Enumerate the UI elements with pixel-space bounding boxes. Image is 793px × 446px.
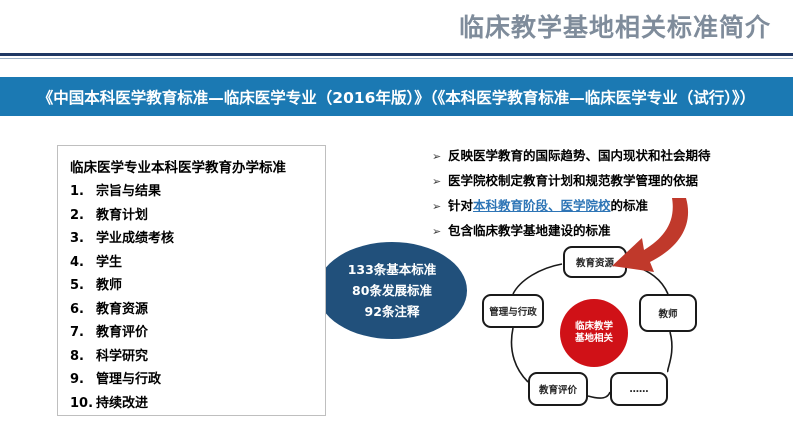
key-point-row: ➢反映医学教育的国际趋势、国内现状和社会期待: [432, 144, 762, 169]
cycle-node-more-label: ……: [630, 384, 649, 395]
page-title: 临床教学基地相关标准简介: [459, 8, 771, 44]
standards-list-item: 5.教师: [70, 274, 325, 298]
header-divider-thin: [0, 58, 793, 59]
standards-list-item-label: 教育评价: [96, 321, 148, 345]
standards-list-item-number: 5.: [70, 274, 96, 298]
standards-list-item-number: 10.: [70, 392, 96, 416]
standards-list-item-label: 持续改进: [96, 392, 148, 416]
key-point-text: 医学院校制定教育计划和规范教学管理的依据: [448, 169, 698, 193]
count-line-basic: 133条基本标准: [348, 259, 437, 280]
standards-list-item: 10.持续改进: [70, 392, 325, 416]
counts-ellipse: 133条基本标准 80条发展标准 92条注释: [317, 242, 467, 339]
standards-list-item-number: 9.: [70, 368, 96, 392]
standards-list-item-number: 8.: [70, 345, 96, 369]
cycle-center-circle: 临床教学 基地相关: [560, 299, 628, 367]
standards-list-item-label: 管理与行政: [96, 368, 161, 392]
count-line-notes: 92条注释: [365, 301, 420, 322]
standards-list-item: 4.学生: [70, 251, 325, 275]
standard-title-banner: 《中国本科医学教育标准—临床医学专业（2016年版）》（《本科医学教育标准—临床…: [0, 77, 793, 116]
standards-list-item-number: 6.: [70, 298, 96, 322]
cycle-node-evaluation-label: 教育评价: [539, 382, 577, 396]
standards-panel-title: 临床医学专业本科医学教育办学标准: [70, 156, 325, 176]
cycle-node-administration[interactable]: 管理与行政: [482, 294, 544, 328]
standards-list-item: 7.教育评价: [70, 321, 325, 345]
chevron-bullet-icon: ➢: [432, 170, 448, 194]
chevron-bullet-icon: ➢: [432, 145, 448, 169]
standards-list-item: 1.宗旨与结果: [70, 180, 325, 204]
key-point-text: 包含临床教学基地建设的标准: [448, 219, 611, 243]
cycle-node-teacher[interactable]: 教师: [639, 294, 697, 332]
standards-list-item-number: 4.: [70, 251, 96, 275]
standards-list-item-number: 7.: [70, 321, 96, 345]
cycle-node-evaluation[interactable]: 教育评价: [528, 372, 588, 406]
standards-list-item-label: 教师: [96, 274, 122, 298]
banner-text: 《中国本科医学教育标准—临床医学专业（2016年版）》（《本科医学教育标准—临床…: [38, 86, 755, 108]
cycle-node-administration-label: 管理与行政: [489, 304, 537, 318]
standards-list-item-number: 1.: [70, 180, 96, 204]
standards-panel: 临床医学专业本科医学教育办学标准 1.宗旨与结果2.教育计划3.学业成绩考核4.…: [57, 145, 326, 416]
count-line-develop: 80条发展标准: [352, 280, 432, 301]
standards-list-item-label: 宗旨与结果: [96, 180, 161, 204]
slide-header: 临床教学基地相关标准简介: [0, 0, 793, 56]
key-point-row: ➢医学院校制定教育计划和规范教学管理的依据: [432, 169, 762, 194]
chevron-bullet-icon: ➢: [432, 220, 448, 244]
standards-list-item: 2.教育计划: [70, 204, 325, 228]
standards-list-item-label: 教育计划: [96, 204, 148, 228]
cycle-center-line1: 临床教学: [575, 321, 613, 333]
standards-list-item-number: 3.: [70, 227, 96, 251]
standards-list-item-label: 教育资源: [96, 298, 148, 322]
red-curved-arrow-icon: [590, 192, 700, 282]
standards-list-item: 3.学业成绩考核: [70, 227, 325, 251]
standards-list-item: 9.管理与行政: [70, 368, 325, 392]
header-divider: [0, 53, 793, 56]
cycle-node-more[interactable]: ……: [610, 372, 668, 406]
standards-list-item-label: 学生: [96, 251, 122, 275]
cycle-center-line2: 基地相关: [575, 333, 613, 345]
chevron-bullet-icon: ➢: [432, 195, 448, 219]
standards-list-item: 8.科学研究: [70, 345, 325, 369]
cycle-node-teacher-label: 教师: [658, 306, 677, 320]
standards-list-item-label: 学业成绩考核: [96, 227, 174, 251]
standards-list-item-label: 科学研究: [96, 345, 148, 369]
key-point-prefix: 针对: [448, 198, 473, 213]
standards-list: 1.宗旨与结果2.教育计划3.学业成绩考核4.学生5.教师6.教育资源7.教育评…: [58, 180, 325, 415]
key-point-text: 反映医学教育的国际趋势、国内现状和社会期待: [448, 144, 711, 168]
standards-list-item: 6.教育资源: [70, 298, 325, 322]
standards-list-item-number: 2.: [70, 204, 96, 228]
